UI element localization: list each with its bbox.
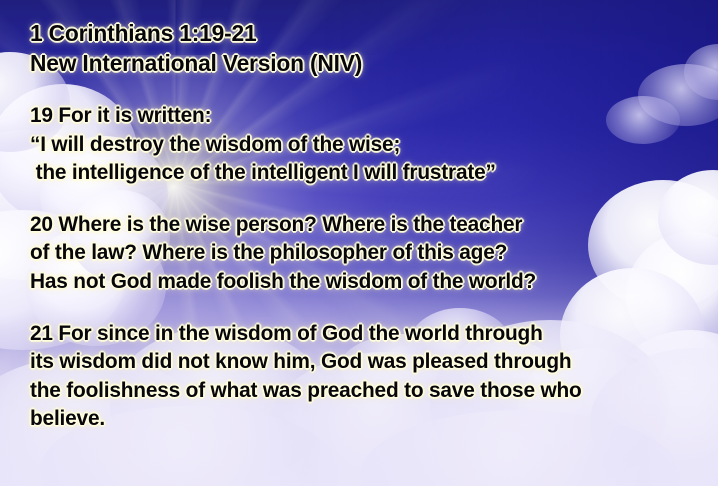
verse-19-line-3: the intelligence of the intelligent I wi…: [30, 158, 684, 187]
paragraph-spacer: [30, 187, 704, 210]
paragraph-spacer: [30, 78, 704, 101]
translation-name: New International Version (NIV): [30, 48, 684, 78]
verse-20-line-1: 20 Where is the wise person? Where is th…: [30, 210, 684, 239]
verse-21-line-1: 21 For since in the wisdom of God the wo…: [30, 319, 684, 348]
scripture-slide: 1 Corinthians 1:19-21 New International …: [0, 0, 718, 486]
verse-19-line-1: 19 For it is written:: [30, 101, 684, 130]
verse-20-line-2: of the law? Where is the philosopher of …: [30, 238, 684, 267]
verse-reference: 1 Corinthians 1:19-21: [30, 18, 684, 48]
verse-21-line-4: believe.: [30, 404, 684, 433]
paragraph-spacer: [30, 296, 704, 319]
verse-21-line-2: its wisdom did not know him, God was ple…: [30, 347, 684, 376]
scripture-text-block: 1 Corinthians 1:19-21 New International …: [30, 18, 704, 433]
verse-21-line-3: the foolishness of what was preached to …: [30, 376, 684, 405]
verse-20-line-3: Has not God made foolish the wisdom of t…: [30, 267, 684, 296]
verse-19-line-2: “I will destroy the wisdom of the wise;: [30, 130, 684, 159]
